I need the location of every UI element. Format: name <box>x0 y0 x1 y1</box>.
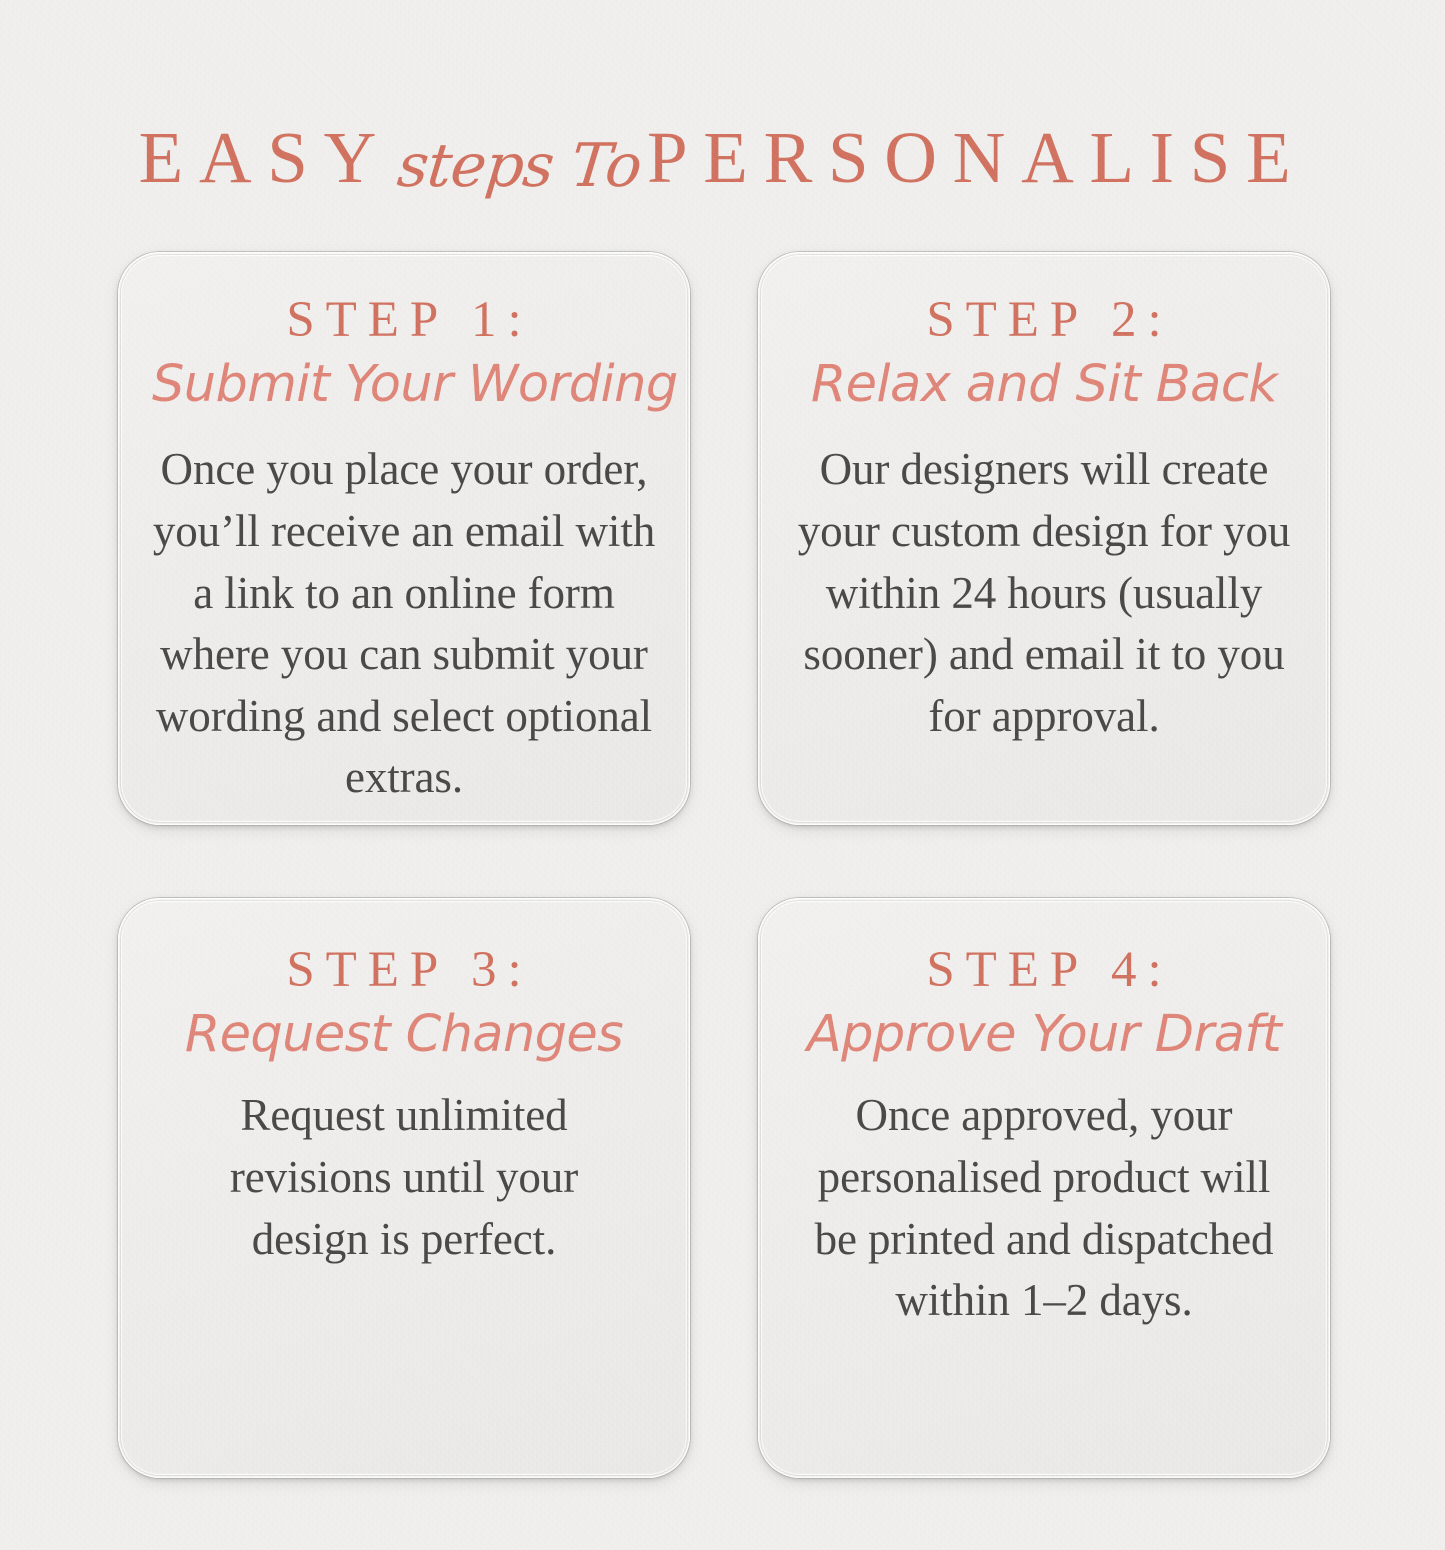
steps-grid: STEP 1: Submit Your Wording Once you pla… <box>118 252 1330 1478</box>
step-card-1-title: Submit Your Wording <box>152 356 656 413</box>
step-card-2: STEP 2: Relax and Sit Back Our designers… <box>758 252 1330 825</box>
step-card-3-title: Request Changes <box>152 1006 656 1063</box>
step-card-1-label: STEP 1: <box>152 290 656 350</box>
step-card-4: STEP 4: Approve Your Draft Once approved… <box>758 898 1330 1478</box>
step-card-1-body: Once you place your order, you’ll receiv… <box>152 439 656 809</box>
title-word-easy: EASY <box>139 117 392 198</box>
step-card-1-content: STEP 1: Submit Your Wording Once you pla… <box>152 290 656 809</box>
title-word-personalise: PERSONALISE <box>647 117 1306 198</box>
step-card-3: STEP 3: Request Changes Request unlimite… <box>118 898 690 1478</box>
step-card-2-body: Our designers will create your custom de… <box>794 439 1294 747</box>
step-card-3-label: STEP 3: <box>152 940 656 1000</box>
step-card-3-body: Request unlimited revisions until your d… <box>204 1085 604 1270</box>
step-card-1: STEP 1: Submit Your Wording Once you pla… <box>118 252 690 825</box>
step-card-2-title: Relax and Sit Back <box>792 356 1296 413</box>
infographic-page: EASYsteps ToPERSONALISE STEP 1: Submit Y… <box>0 0 1445 1550</box>
step-card-2-content: STEP 2: Relax and Sit Back Our designers… <box>792 290 1296 747</box>
step-card-2-label: STEP 2: <box>792 290 1296 350</box>
page-title: EASYsteps ToPERSONALISE <box>0 116 1445 200</box>
step-card-4-content: STEP 4: Approve Your Draft Once approved… <box>792 936 1296 1332</box>
step-card-4-label: STEP 4: <box>792 940 1296 1000</box>
step-card-4-title: Approve Your Draft <box>792 1006 1296 1063</box>
step-card-3-content: STEP 3: Request Changes Request unlimite… <box>152 936 656 1270</box>
step-card-4-body: Once approved, your personalised product… <box>792 1085 1296 1332</box>
title-script-steps-to: steps To <box>388 131 650 201</box>
